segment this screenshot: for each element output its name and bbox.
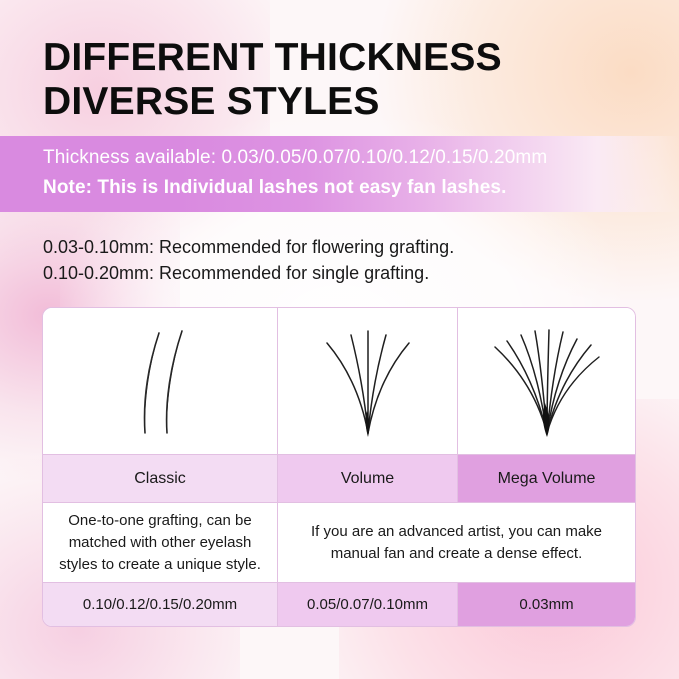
recommendation-line-2: 0.10-0.20mm: Recommended for single graf… xyxy=(43,260,643,286)
table-row-descriptions: One-to-one grafting, can be matched with… xyxy=(43,502,635,582)
table-row-thickness: 0.10/0.12/0.15/0.20mm 0.05/0.07/0.10mm 0… xyxy=(43,582,635,626)
page-title-line-2: DIVERSE STYLES xyxy=(43,80,643,124)
style-name-mega-volume: Mega Volume xyxy=(458,454,635,502)
description-classic: One-to-one grafting, can be matched with… xyxy=(43,502,278,582)
thickness-banner: Thickness available: 0.03/0.05/0.07/0.10… xyxy=(0,136,679,212)
style-name-classic: Classic xyxy=(43,454,278,502)
recommendation-block: 0.03-0.10mm: Recommended for flowering g… xyxy=(43,234,643,286)
classic-lash-illustration xyxy=(125,325,195,437)
page-title: DIFFERENT THICKNESS DIVERSE STYLES xyxy=(43,36,643,124)
page-title-line-1: DIFFERENT THICKNESS xyxy=(43,36,643,80)
infographic-page: DIFFERENT THICKNESS DIVERSE STYLES Thick… xyxy=(0,0,679,679)
lash-style-comparison-table: Classic Volume Mega Volume One-to-one gr… xyxy=(42,307,636,627)
volume-fan-illustration xyxy=(313,325,423,437)
description-volume-mega: If you are an advanced artist, you can m… xyxy=(278,502,635,582)
thickness-volume: 0.05/0.07/0.10mm xyxy=(278,582,458,626)
mega-volume-fan-illustration-cell xyxy=(458,308,635,454)
banner-note-text: Note: This is Individual lashes not easy… xyxy=(43,177,506,199)
classic-lash-illustration-cell xyxy=(43,308,278,454)
mega-volume-fan-illustration xyxy=(485,325,609,437)
table-row-style-names: Classic Volume Mega Volume xyxy=(43,454,635,502)
recommendation-line-1: 0.03-0.10mm: Recommended for flowering g… xyxy=(43,234,643,260)
table-row-illustrations xyxy=(43,308,635,454)
thickness-mega-volume: 0.03mm xyxy=(458,582,635,626)
thickness-classic: 0.10/0.12/0.15/0.20mm xyxy=(43,582,278,626)
thickness-available-text: Thickness available: 0.03/0.05/0.07/0.10… xyxy=(43,147,547,169)
volume-fan-illustration-cell xyxy=(278,308,458,454)
style-name-volume: Volume xyxy=(278,454,458,502)
